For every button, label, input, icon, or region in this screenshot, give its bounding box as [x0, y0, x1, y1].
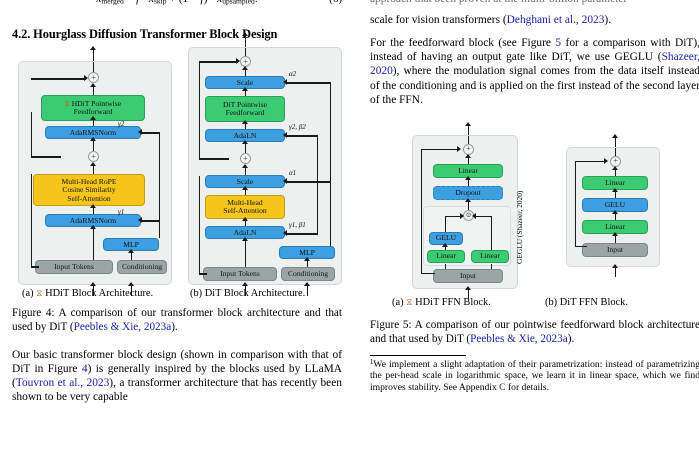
hourglass-icon: ⧖ — [406, 297, 412, 308]
arrow — [90, 204, 96, 208]
arrow — [612, 134, 618, 138]
skip-edge — [31, 266, 39, 267]
figure4-caption: Figure 4: A comparison of our transforme… — [12, 307, 342, 335]
node-input-tokens: Input Tokens — [35, 260, 113, 274]
arrow — [138, 129, 142, 135]
arrow — [128, 282, 134, 286]
arrow — [242, 164, 248, 168]
arrow — [283, 79, 287, 85]
label-gamma-beta-1: γ1, β1 — [289, 221, 306, 229]
arrow — [612, 264, 618, 268]
arrow — [242, 217, 248, 221]
cond-rail — [159, 132, 160, 238]
arrow — [242, 66, 248, 70]
arrow — [304, 257, 310, 261]
arrow — [242, 237, 248, 241]
arrow — [90, 46, 96, 50]
arrow — [460, 213, 464, 219]
edge — [245, 239, 246, 267]
cond-edge — [286, 135, 318, 136]
right-clipped-line: approach that been proven at the multi-b… — [370, 0, 699, 12]
hdit-ffn-panel: + Linear Dropout ⊙ GELU Linear Linear — [412, 135, 518, 289]
arrow — [465, 154, 471, 158]
arrow — [283, 230, 287, 236]
cond-edge — [286, 82, 331, 83]
skip-edge — [575, 161, 576, 247]
skip-edge — [31, 78, 86, 79]
right-paragraph-1: For the feedforward block (see Figure 5 … — [370, 36, 699, 107]
skip-edge — [421, 273, 435, 274]
node-input: Input — [582, 243, 648, 257]
edge — [93, 227, 94, 260]
arrow — [242, 87, 248, 91]
skip-edge — [575, 161, 606, 162]
right-paragraph-0: scale for vision transformers (Dehghani … — [370, 13, 699, 27]
edge — [245, 48, 246, 56]
arrow — [465, 286, 471, 290]
arrow — [90, 162, 96, 166]
skip-edge — [31, 112, 32, 157]
cond-edge — [141, 220, 160, 221]
edge — [445, 216, 446, 232]
cond-edge — [286, 181, 331, 182]
arrow — [304, 282, 310, 286]
residual-add-top: + — [88, 72, 99, 83]
figure5-caption: Figure 5: A comparison of our pointwise … — [370, 319, 699, 347]
cond-edge — [286, 233, 318, 234]
arrow — [90, 282, 96, 286]
arrow — [90, 83, 96, 87]
arrow — [236, 58, 240, 64]
residual-add-bottom: + — [88, 151, 99, 162]
label-alpha2: α2 — [289, 70, 296, 78]
arrow — [604, 158, 608, 164]
hdit-block-panel: + ⧖ HDiT Pointwise Feedforward AdaRMSNor… — [18, 61, 172, 285]
arrow — [84, 75, 88, 81]
arrow — [442, 243, 448, 247]
label-gamma2: γ2 — [118, 120, 124, 128]
arrow — [128, 249, 134, 253]
node-linear-left: Linear — [427, 250, 465, 263]
dit-ffn-panel: + Linear GELU Linear Input — [566, 147, 660, 267]
left-paragraph-1: Our basic transformer block design (show… — [12, 348, 342, 405]
figure-4: + ⧖ HDiT Pointwise Feedforward AdaRMSNor… — [12, 47, 342, 299]
skip-edge — [421, 149, 422, 273]
right-column: approach that been proven at the multi-b… — [370, 0, 699, 394]
cond-edge — [141, 132, 160, 133]
equation-6: xmerged = f · xskip + (1 − f) · xupsampl… — [12, 0, 342, 13]
skip-edge — [199, 273, 207, 274]
figure5-subcaption-a: (a) ⧖ HDiT FFN Block. — [392, 297, 491, 308]
node-conditioning: Conditioning — [281, 267, 335, 281]
arrow — [612, 188, 618, 192]
citation-link[interactable]: Peebles & Xie, 2023a — [74, 321, 172, 333]
arrow — [90, 225, 96, 229]
section-heading: 4.2. Hourglass Diffusion Transformer Blo… — [12, 27, 342, 41]
edge — [93, 62, 94, 72]
edge — [468, 136, 469, 144]
arrow — [90, 137, 96, 141]
figure4-subcaption-b: (b) DiT Block Architecture. — [190, 288, 305, 299]
residual-add-bottom: + — [240, 153, 251, 164]
equation-number: (6) — [329, 0, 342, 5]
arrow — [472, 213, 476, 219]
figure4-subcaption-a: (a) ⧖ HDiT Block Architecture. — [22, 288, 153, 299]
skip-edge — [199, 158, 229, 159]
edge — [445, 264, 446, 269]
arrow — [283, 132, 287, 138]
arrow — [242, 140, 248, 144]
footnote-rule — [370, 355, 466, 356]
skip-edge — [199, 176, 200, 273]
cond-rail — [317, 135, 318, 233]
node-conditioning: Conditioning — [117, 260, 167, 274]
figure5-subcaption-b: (b) DiT FFN Block. — [545, 297, 628, 308]
node-multihead-self-attention: Multi-Head Self-Attention — [205, 195, 285, 219]
hourglass-icon: ⧖ — [36, 288, 42, 299]
arrow — [465, 176, 471, 180]
skip-edge — [31, 156, 61, 157]
label-gamma-beta-2: γ2, β2 — [289, 123, 306, 131]
arrow — [138, 217, 142, 223]
skip-edge — [421, 149, 459, 150]
arrow — [612, 210, 618, 214]
node-input-tokens: Input Tokens — [203, 267, 277, 281]
skip-edge — [575, 246, 587, 247]
edge — [491, 216, 492, 250]
label-geglu: GEGLU (Shazeer, 2020) — [515, 190, 524, 263]
figure-5: + Linear Dropout ⊙ GELU Linear Linear — [370, 125, 699, 315]
arrow — [465, 122, 471, 126]
node-input: Input — [433, 269, 503, 283]
arrow — [242, 186, 248, 190]
edge — [615, 148, 616, 156]
citation-link[interactable]: Touvron et al., 2023 — [16, 377, 110, 389]
footnote-1: 1We implement a slight adaptation of the… — [370, 359, 699, 394]
footnote-block: 1We implement a slight adaptation of the… — [370, 355, 699, 394]
left-column: xmerged = f · xskip + (1 − f) · xupsampl… — [12, 0, 342, 412]
citation-link[interactable]: Dehghani et al., 2023 — [507, 14, 605, 26]
arrow — [465, 198, 471, 202]
paper-page: xmerged = f · xskip + (1 − f) · xupsampl… — [0, 0, 699, 458]
dit-block-panel: + Scale DiT Pointwise Feedforward AdaLN — [188, 47, 342, 285]
edge — [475, 216, 492, 217]
arrow — [612, 232, 618, 236]
arrow — [612, 166, 618, 170]
cond-rail — [330, 82, 331, 246]
skip-edge — [199, 61, 200, 159]
node-dit-pointwise-feedforward: DiT Pointwise Feedforward — [205, 96, 285, 122]
arrow — [242, 282, 248, 286]
skip-edge — [199, 61, 238, 62]
arrow — [242, 120, 248, 124]
node-linear-right: Linear — [471, 250, 509, 263]
equation-body: xmerged = f · xskip + (1 − f) · xupsampl… — [96, 0, 257, 6]
label-alpha1: α1 — [289, 169, 296, 177]
arrow — [457, 146, 461, 152]
node-multihead-rope-cosine-attention: Multi-Head RoPE Cosine Similarity Self-A… — [33, 174, 145, 206]
label-gamma1: γ1 — [118, 208, 124, 216]
hourglass-icon: ⧖ — [65, 101, 70, 109]
arrow — [90, 116, 96, 120]
arrow — [242, 32, 248, 36]
skip-edge — [31, 174, 32, 266]
edge — [491, 264, 492, 269]
citation-link[interactable]: Peebles & Xie, 2023a — [470, 333, 568, 345]
arrow — [283, 178, 287, 184]
